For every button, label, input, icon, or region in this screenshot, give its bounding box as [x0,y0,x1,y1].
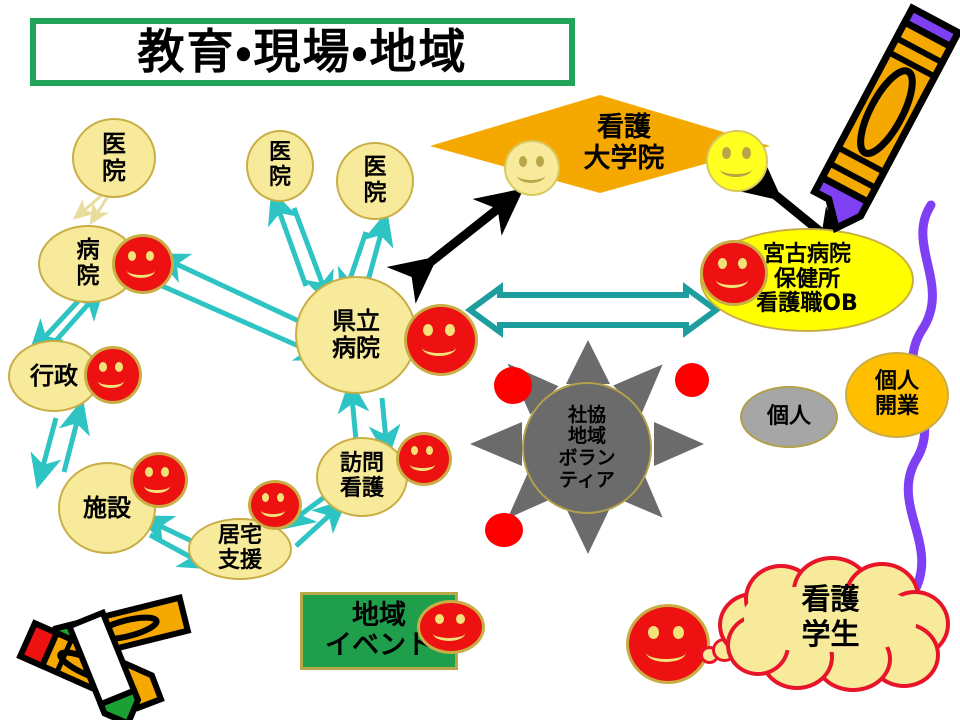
smiley-mouth [422,339,456,356]
smiley-eye-right [456,614,465,624]
smiley-mouth [144,479,170,493]
smiley-eye-left [648,626,659,639]
smiley-face-red-icon [396,432,452,486]
smiley-eye-left [423,324,433,336]
smiley-eye-left [718,258,727,269]
smiley-eye-left [411,446,418,455]
connector-prefectural-gradschool [418,204,504,272]
smiley-mouth [433,626,465,641]
smiley-mouth [517,168,545,183]
smiley-eye-right [277,493,284,502]
smiley-face-yellow-icon [504,140,560,196]
smiley-eye-right [536,156,544,167]
node-clinic-mid-label: 医 院 [269,141,291,190]
node-nursing-student-label: 看護 学生 [718,582,943,652]
smiley-mouth [261,504,285,517]
smiley-eye-right [445,324,455,336]
smiley-face-red-icon [700,240,768,306]
red-dot-icon [675,363,709,397]
smiley-eye-left [99,362,107,372]
node-private-practice-label: 個人 開業 [875,370,919,419]
connector-prefectural-miyako-hollow [470,288,716,332]
smiley-eye-right [673,626,684,639]
node-clinic-right-label: 医 院 [364,155,387,207]
node-home-support-label: 居宅 支援 [218,524,262,573]
connector-administration-facility [42,418,78,472]
smiley-face-red-icon [112,234,174,294]
sun-ray-n [566,340,610,384]
smiley-eye-left [145,467,153,477]
smiley-eye-right [742,147,751,159]
node-prefectural-hospital[interactable]: 県立 病院 [295,276,417,394]
smiley-mouth [127,263,155,278]
red-dot-icon [485,513,523,547]
node-volunteer-label: 社協 地域 ボラン ティア [522,382,652,514]
slide-title-box: 教育・現場・地域 [30,18,575,86]
sun-ray-e [654,422,704,466]
smiley-eye-right [161,467,169,477]
smiley-eye-right [738,258,747,269]
node-graduate-school-label: 看護 大学院 [584,112,665,174]
node-private-practice[interactable]: 個人 開業 [845,352,949,438]
node-clinic-right[interactable]: 医 院 [336,142,414,220]
node-clinic-mid[interactable]: 医 院 [246,130,314,202]
crayons-group-icon [0,572,200,720]
smiley-eye-right [426,446,433,455]
smiley-face-yellow-icon [706,130,768,192]
smiley-face-red-icon [130,452,188,508]
smiley-eye-left [519,156,527,167]
smiley-mouth [98,374,124,388]
connector-prefectural-clinicmid [278,208,324,288]
smiley-face-red-icon [417,600,485,654]
node-individual-label: 個人 [767,405,811,430]
connector-visitingnurse-prefectural [352,398,386,440]
sun-ray-s [566,508,610,554]
smiley-mouth [646,643,686,662]
smiley-face-red-icon [626,604,710,684]
node-clinic-left[interactable]: 医 院 [72,118,156,198]
node-visiting-nurse[interactable]: 訪問 看護 [316,437,408,517]
smiley-eye-left [722,147,731,159]
node-visiting-nurse-label: 訪問 看護 [340,452,384,501]
slide-canvas: 教育・現場・地域 [0,0,960,720]
page-title: 教育・現場・地域 [138,29,468,76]
smiley-mouth [410,458,435,471]
smiley-eye-left [128,251,136,261]
smiley-face-red-icon [404,304,478,376]
node-hospital-label: 病 院 [77,238,100,290]
node-nursing-student[interactable]: 看護 学生 [718,556,943,684]
connector-hospital-administration [42,297,92,345]
node-administration-label: 行政 [30,363,78,390]
node-facility-label: 施設 [83,495,131,522]
node-miyako-hospital-label: 宮古病院 保健所 看護職OB [756,243,857,317]
smiley-eye-right [146,251,154,261]
smiley-eye-left [262,493,269,502]
red-dot-icon [494,367,532,404]
node-individual[interactable]: 個人 [740,386,838,448]
smiley-face-red-icon [248,480,302,530]
smiley-eye-left [435,614,444,624]
smiley-face-red-icon [84,346,142,404]
node-clinic-left-label: 医 院 [102,131,126,185]
crayon-purple-icon [800,0,960,240]
smiley-mouth [716,272,748,288]
node-prefectural-hospital-label: 県立 病院 [332,308,380,362]
sun-ray-w [470,422,522,466]
smiley-eye-right [115,362,123,372]
smiley-mouth [720,161,752,177]
